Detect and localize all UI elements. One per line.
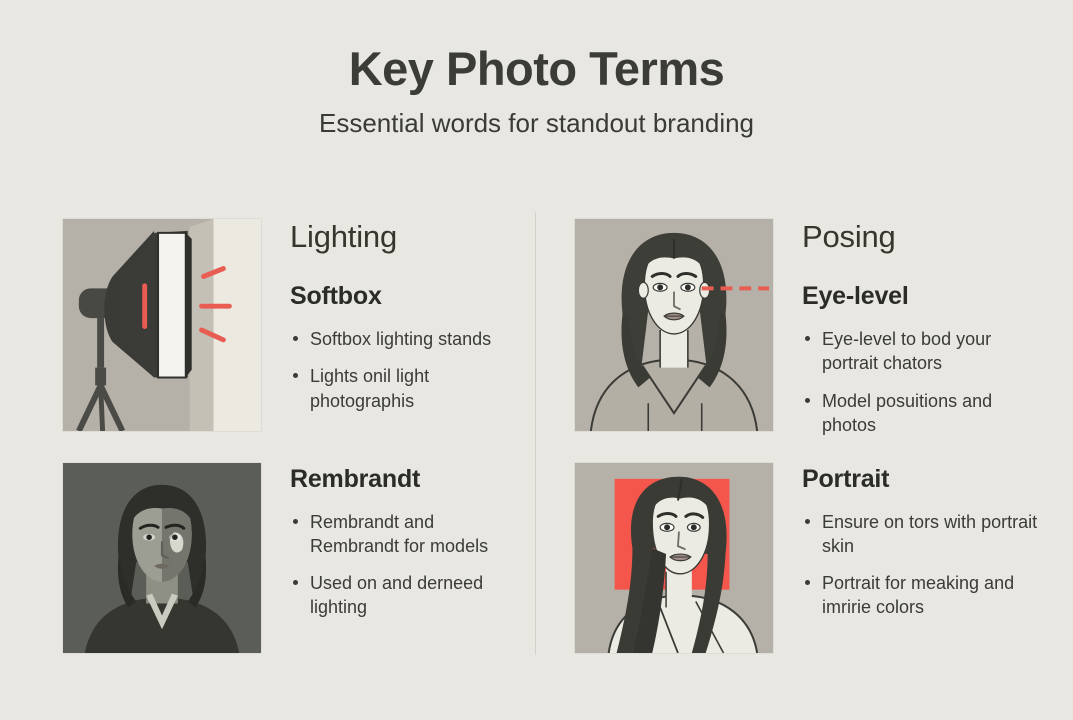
bullet-list-portrait: Ensure on tors with portrait skin Portra… bbox=[802, 510, 1047, 620]
posing-text-column: Posing Eye-level Eye-level to bod your p… bbox=[802, 218, 1047, 437]
rembrandt-portrait-svg bbox=[63, 463, 261, 653]
list-item: Ensure on tors with portrait skin bbox=[802, 510, 1047, 559]
section-rembrandt: Rembrandt Rembrandt and Rembrandt for mo… bbox=[62, 462, 528, 654]
rembrandt-portrait-illustration bbox=[62, 462, 262, 654]
section-lighting: Lighting Softbox Softbox lighting stands… bbox=[62, 218, 528, 432]
bullet-list-eye-level: Eye-level to bod your portrait chators M… bbox=[802, 327, 1047, 437]
term-heading-portrait: Portrait bbox=[802, 466, 1047, 494]
rembrandt-text-column: Rembrandt Rembrandt and Rembrandt for mo… bbox=[290, 462, 528, 620]
category-heading-posing: Posing bbox=[802, 220, 1047, 253]
term-heading-eye-level: Eye-level bbox=[802, 283, 1047, 311]
column-divider bbox=[535, 212, 536, 655]
bullet-list-softbox: Softbox lighting stands Lights onil ligh… bbox=[290, 327, 528, 413]
section-posing: Posing Eye-level Eye-level to bod your p… bbox=[574, 218, 1047, 437]
list-item: Rembrandt and Rembrandt for models bbox=[290, 510, 528, 559]
eye-level-portrait-svg bbox=[575, 219, 773, 431]
list-item: Portrait for meaking and imririe colors bbox=[802, 571, 1047, 620]
list-item: Lights onil light photographis bbox=[290, 364, 528, 413]
list-item: Used on and derneed lighting bbox=[290, 571, 528, 620]
section-portrait: Portrait Ensure on tors with portrait sk… bbox=[574, 462, 1047, 654]
category-heading-lighting: Lighting bbox=[290, 220, 528, 253]
portrait-red-backdrop-svg bbox=[575, 463, 773, 653]
page-title: Key Photo Terms bbox=[0, 44, 1073, 93]
softbox-lighting-illustration bbox=[62, 218, 262, 432]
list-item: Model posuitions and photos bbox=[802, 389, 1047, 438]
page-header: Key Photo Terms Essential words for stan… bbox=[0, 44, 1073, 138]
page-subtitle: Essential words for standout branding bbox=[0, 109, 1073, 138]
list-item: Softbox lighting stands bbox=[290, 327, 528, 351]
list-item: Eye-level to bod your portrait chators bbox=[802, 327, 1047, 376]
bullet-list-rembrandt: Rembrandt and Rembrandt for models Used … bbox=[290, 510, 528, 620]
lighting-text-column: Lighting Softbox Softbox lighting stands… bbox=[290, 218, 528, 413]
portrait-red-backdrop-illustration bbox=[574, 462, 774, 654]
portrait-text-column: Portrait Ensure on tors with portrait sk… bbox=[802, 462, 1047, 620]
softbox-svg bbox=[63, 219, 261, 431]
term-heading-rembrandt: Rembrandt bbox=[290, 466, 528, 494]
eye-level-portrait-illustration bbox=[574, 218, 774, 432]
term-heading-softbox: Softbox bbox=[290, 283, 528, 311]
